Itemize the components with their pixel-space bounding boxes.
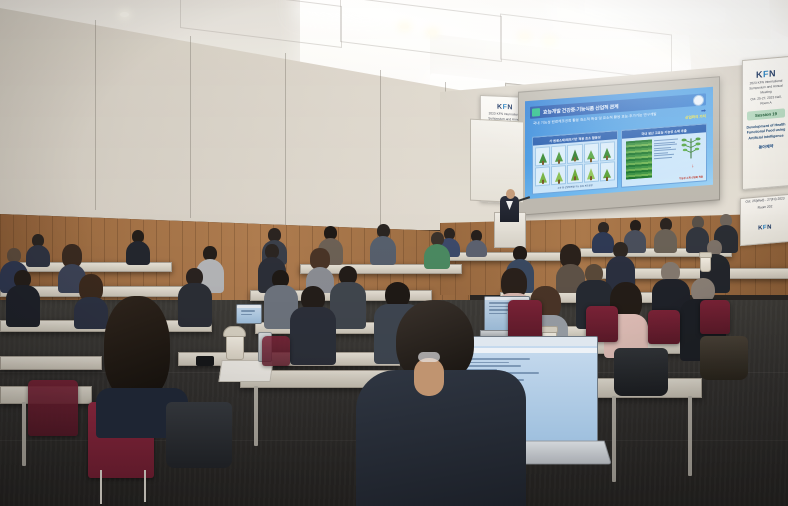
slide-highlight-text: 산업화의 가치 xyxy=(685,114,706,121)
chair-leg xyxy=(144,470,146,502)
attendee xyxy=(290,286,336,362)
attendee xyxy=(424,232,450,268)
tree-icon xyxy=(603,169,611,179)
slide-panel-right-note: 기능성 소재 산업화 적용 xyxy=(679,175,703,181)
desk-leg xyxy=(22,402,26,466)
chair-leg xyxy=(100,470,102,504)
wall-seam-1 xyxy=(95,20,96,210)
poster-right-kfn: KFN 2023 KFN International Symposium and… xyxy=(742,56,788,190)
tree-cell xyxy=(551,145,566,165)
attendee xyxy=(654,218,677,252)
tree-icon xyxy=(571,149,579,161)
desk-leg xyxy=(612,396,616,482)
plant-diagram-icon xyxy=(680,136,702,162)
attendee xyxy=(370,224,396,264)
chair[interactable] xyxy=(648,310,680,344)
wall-seam-2 xyxy=(190,36,191,218)
desk-row2a xyxy=(0,356,102,370)
slide-text-block xyxy=(654,138,678,160)
tree-cell xyxy=(600,161,615,181)
foreground-attendee-hand xyxy=(414,358,444,396)
dome-lid xyxy=(223,326,246,337)
tree-icon xyxy=(539,153,547,164)
tree-cell xyxy=(551,165,566,185)
poster-right-session-title: Development of Health Functional Food us… xyxy=(743,120,788,144)
poster-right-sponsor: 동아제약 xyxy=(743,142,788,152)
tree-icon xyxy=(587,168,595,180)
backpack xyxy=(166,402,232,468)
iced-drink-cup xyxy=(226,334,244,360)
attendee xyxy=(466,230,487,256)
desk-leg xyxy=(688,396,692,476)
wall-seam-4 xyxy=(380,70,381,232)
tree-icon xyxy=(555,151,563,162)
slide-panel-right: 국내 생산 고효능 기능성 소재 추출 xyxy=(621,123,707,188)
tree-cell xyxy=(584,163,599,183)
tree-icon xyxy=(603,148,611,159)
tree-cell xyxy=(535,166,550,186)
slide-ministry-logo xyxy=(693,94,704,106)
slide-panel-left: 가 원료소재/제조기반 적용 효소 활용성 고추 및 산업연계형 기능 원료 제… xyxy=(532,130,618,195)
tree-cell xyxy=(584,143,599,163)
stage-backdrop-banner xyxy=(470,119,524,204)
tote-bag xyxy=(614,348,668,396)
poster-right-lower-sign: Oct. 25(Wed) - 27(Fri) 2023 Room 202 KFN xyxy=(740,194,788,246)
tree-cell xyxy=(567,164,582,184)
downlight-5 xyxy=(120,12,129,17)
tree-icon xyxy=(571,168,579,181)
foreground-attendee xyxy=(356,300,526,506)
cup-lid xyxy=(699,252,712,258)
chair[interactable] xyxy=(700,300,730,334)
eyeglasses xyxy=(418,352,440,362)
tree-cell xyxy=(567,144,582,164)
smartphone[interactable] xyxy=(196,356,214,366)
kfn-logo-lower: KFN xyxy=(741,222,788,232)
attendee xyxy=(26,234,50,266)
presentation-slide: 효능개발 건강중-기능식품 산업적 관계 국내 기능성 원료제조공정 활용 효소… xyxy=(525,87,713,199)
tree-icon xyxy=(555,171,563,182)
attendee xyxy=(6,270,40,326)
cup-lid xyxy=(540,326,558,333)
desk-leg xyxy=(254,386,258,446)
lecture-hall-photo: KFN 2023 KFN International Symposium and… xyxy=(0,0,788,506)
coffee-cup xyxy=(700,256,711,272)
wall-seam-3 xyxy=(285,53,286,225)
presenter-head xyxy=(506,189,515,199)
shoulder-bag xyxy=(700,336,748,380)
attendee xyxy=(126,230,150,264)
tree-cell xyxy=(535,146,550,166)
laptop-screen[interactable] xyxy=(236,304,262,324)
tree-icon xyxy=(587,150,595,160)
down-arrow-icon: ↓ xyxy=(692,163,695,169)
tree-icon xyxy=(539,172,547,184)
chair[interactable] xyxy=(262,336,290,366)
green-heatmap-image xyxy=(626,139,652,179)
tree-illustration-grid xyxy=(533,139,617,186)
tree-cell xyxy=(600,141,615,161)
chair[interactable] xyxy=(28,380,78,436)
projection-screen: 효능개발 건강중-기능식품 산업적 관계 국내 기능성 원료제조공정 활용 효소… xyxy=(518,76,720,216)
slide-number-marker xyxy=(532,108,540,117)
session-badge: Session 19 xyxy=(747,108,785,120)
